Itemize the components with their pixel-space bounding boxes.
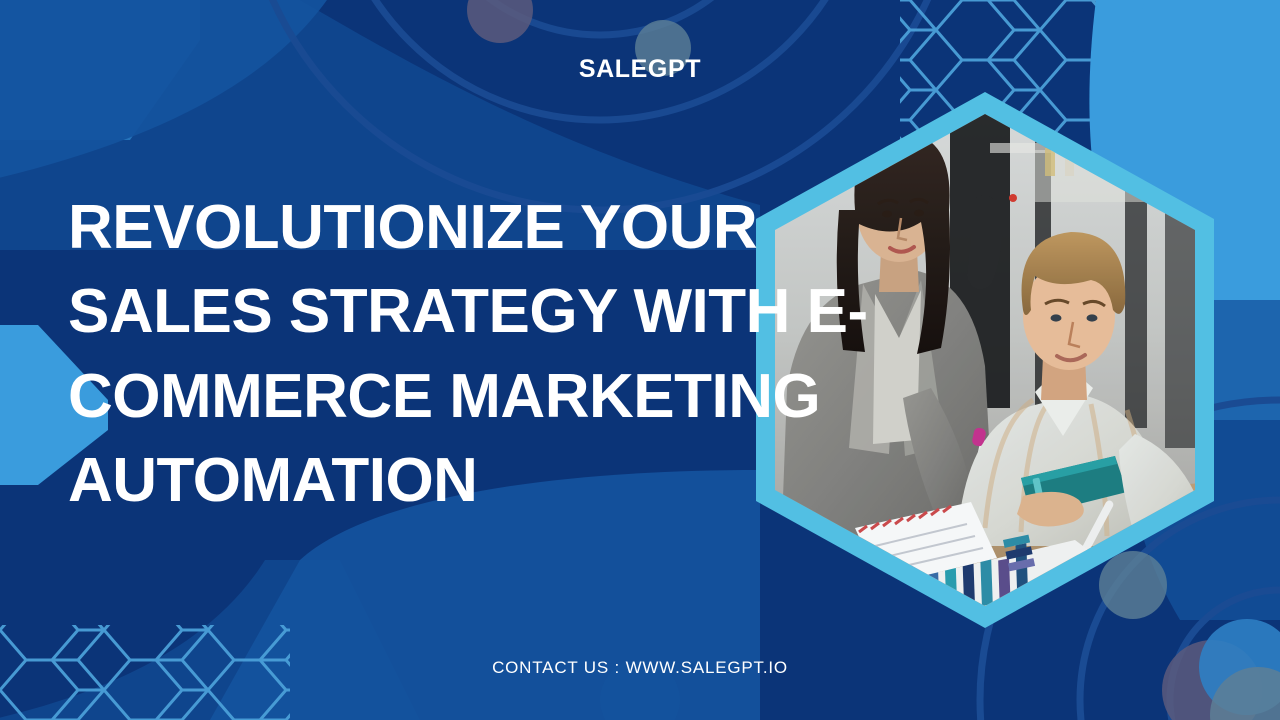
contact-footer: CONTACT US : WWW.SALEGPT.IO <box>0 658 1280 678</box>
promotional-banner: SALEGPT REVOLUTIONIZE YOUR SALES STRATEG… <box>0 0 1280 720</box>
brand-logo-text: SALEGPT <box>0 55 1280 84</box>
page-title: REVOLUTIONIZE YOUR SALES STRATEGY WITH E… <box>68 186 868 523</box>
